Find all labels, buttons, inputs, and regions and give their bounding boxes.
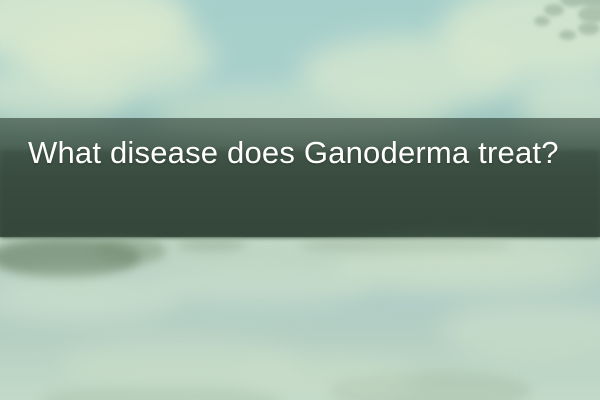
tree-foliage-silhouette [502,0,600,62]
leaf-cluster [544,4,564,16]
leaf-cluster [534,16,550,26]
leaf-cluster [559,30,576,40]
caption-question-text: What disease does Ganoderma treat? [28,134,580,171]
tree-reflection [176,238,246,252]
leaf-cluster [578,6,600,23]
tree-reflection [96,238,166,264]
cloud-reflection [240,356,420,400]
leaf-cluster [578,22,600,35]
cloud-reflection [330,246,590,292]
caption-overlay-band: What disease does Ganoderma treat? [0,118,600,237]
cloud-reflection [440,300,600,360]
screenshot-canvas: What disease does Ganoderma treat? [0,0,600,400]
leaf-cluster [578,0,600,8]
